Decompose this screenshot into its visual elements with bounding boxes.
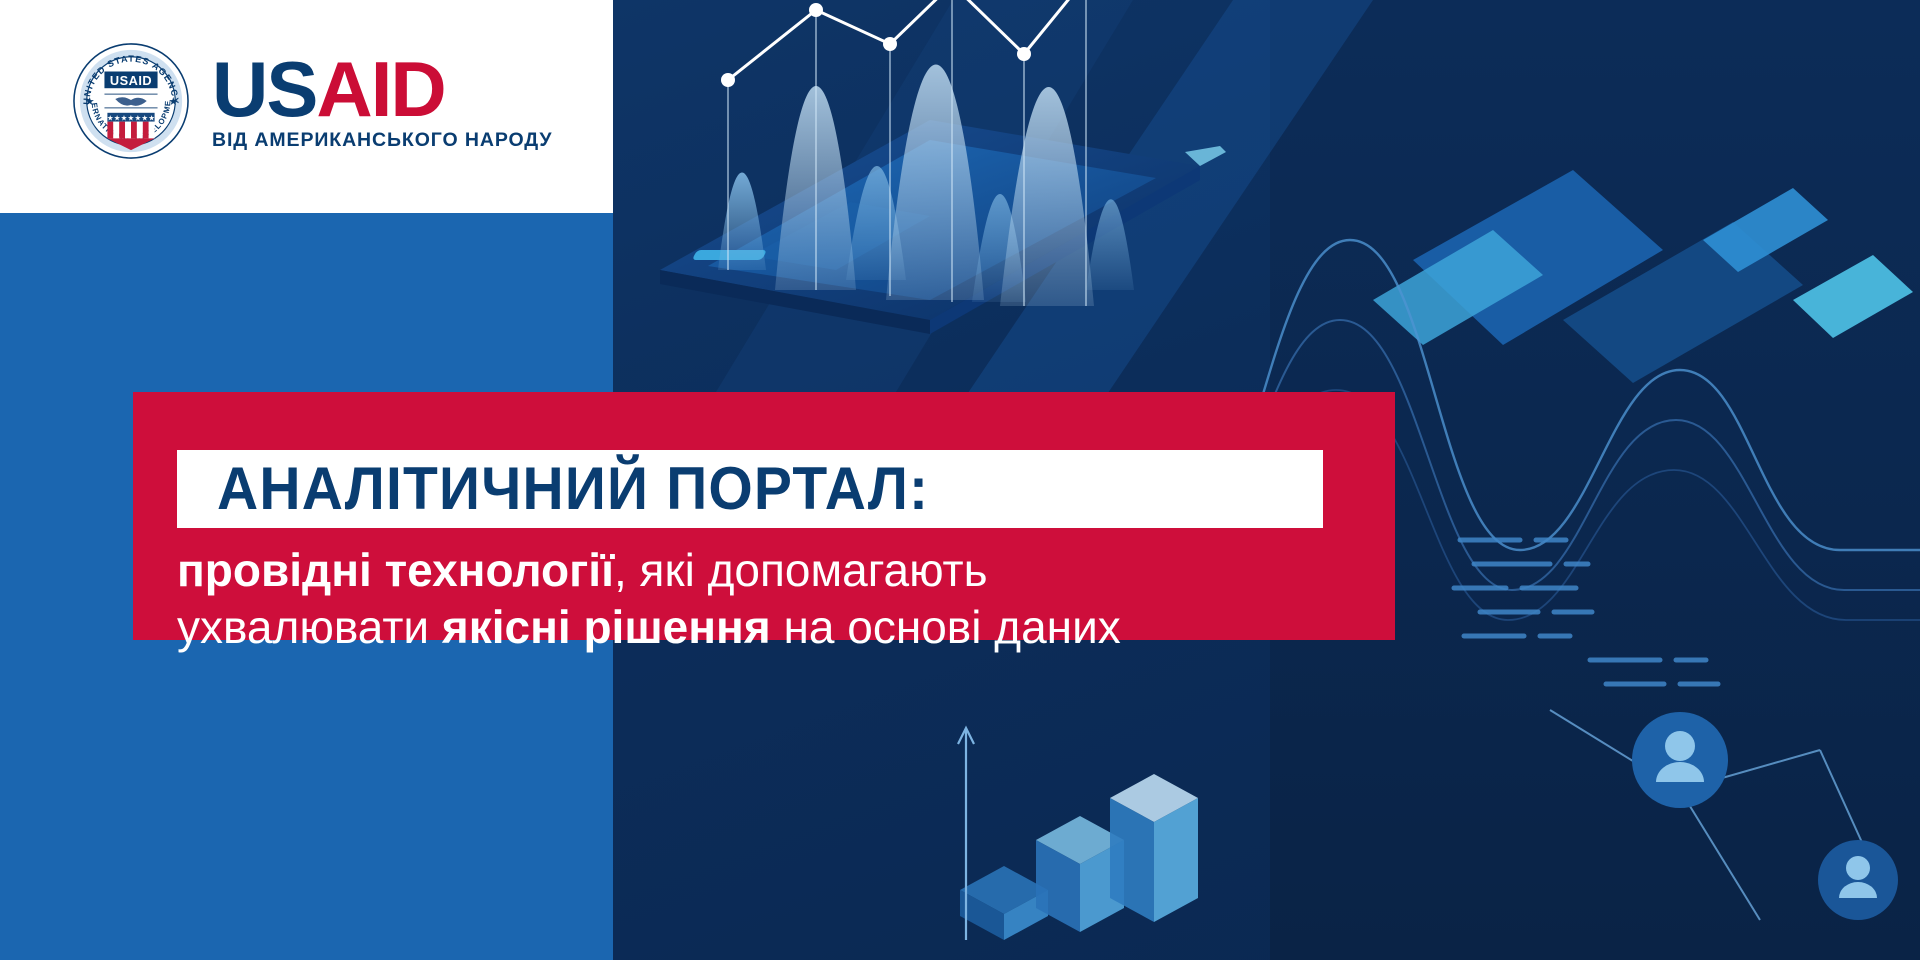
subtitle-emphasis-2: якісні рішення [442, 601, 771, 653]
subtitle-pre-2: ухвалювати [177, 601, 442, 653]
svg-text:USAID: USAID [110, 73, 152, 88]
subtitle-post-2: на основі даних [771, 601, 1121, 653]
usaid-logo: UNITED STATES AGENCY INTERNATIONAL DEVEL… [72, 42, 552, 160]
usaid-seal-icon: UNITED STATES AGENCY INTERNATIONAL DEVEL… [72, 42, 190, 160]
svg-text:★★★★★★★: ★★★★★★★ [107, 113, 155, 122]
usaid-tagline: ВІД АМЕРИКАНСЬКОГО НАРОДУ [212, 131, 552, 151]
headline-title-box: АНАЛІТИЧНИЙ ПОРТАЛ: [177, 450, 1323, 528]
svg-text:★: ★ [85, 96, 95, 108]
svg-text:★: ★ [168, 96, 178, 108]
wordmark-us: US [212, 45, 316, 133]
headline-subtitle-line-1: провідні технології, які допомагають [177, 542, 988, 598]
headline-banner: АНАЛІТИЧНИЙ ПОРТАЛ: провідні технології,… [133, 392, 1395, 640]
page-title: АНАЛІТИЧНИЙ ПОРТАЛ: [177, 454, 929, 524]
subtitle-emphasis-1: провідні технології [177, 544, 614, 596]
poster-canvas: UNITED STATES AGENCY INTERNATIONAL DEVEL… [0, 0, 1920, 960]
subtitle-rest-1: , які допомагають [614, 544, 988, 596]
bar-chart-decoration [940, 640, 1270, 960]
headline-subtitle-line-2: ухвалювати якісні рішення на основі дани… [177, 599, 1121, 655]
usaid-wordmark: USAID ВІД АМЕРИКАНСЬКОГО НАРОДУ [212, 51, 552, 150]
usaid-wordmark-text: USAID [212, 55, 552, 124]
isometric-tablet-illustration [600, 0, 1300, 390]
wordmark-aid: AID [316, 45, 444, 133]
network-nodes-decoration [1430, 630, 1900, 960]
